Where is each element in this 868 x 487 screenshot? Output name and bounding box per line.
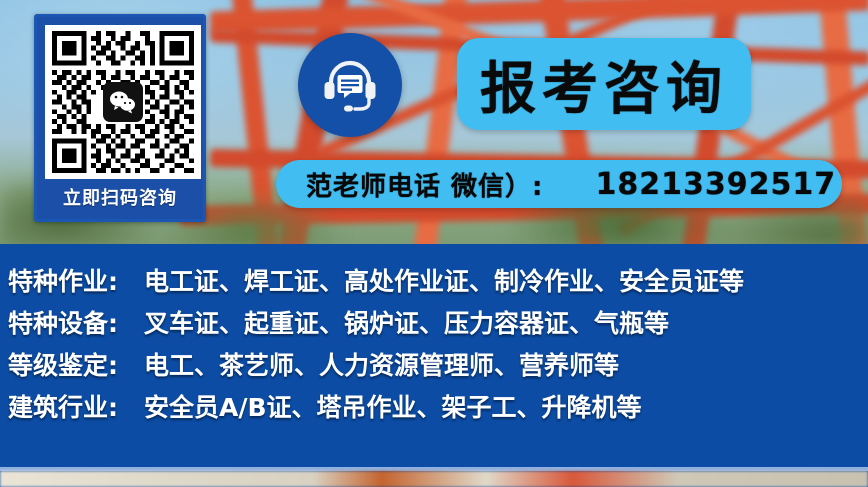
info-row-label: 特种作业: xyxy=(8,262,144,298)
bottom-photo-strip xyxy=(0,471,868,487)
info-row-value: 叉车证、起重证、锅炉证、压力容器证、气瓶等 xyxy=(144,304,669,340)
info-row: 特种作业: 电工证、焊工证、高处作业证、制冷作业、安全员证等 xyxy=(8,262,868,298)
info-panel: 特种作业: 电工证、焊工证、高处作业证、制冷作业、安全员证等 特种设备: 叉车证… xyxy=(0,244,868,467)
qr-code-image[interactable] xyxy=(45,25,201,179)
qr-card[interactable]: 立即扫码咨询 xyxy=(34,14,206,222)
info-row: 特种设备: 叉车证、起重证、锅炉证、压力容器证、气瓶等 xyxy=(8,304,868,340)
phone-label: 范老师电话 微信）: xyxy=(306,166,543,203)
title-pill: 报考咨询 xyxy=(457,38,751,130)
wechat-glyph xyxy=(109,90,137,114)
headset-glyph xyxy=(319,54,381,116)
qr-caption: 立即扫码咨询 xyxy=(45,179,195,219)
title-text: 报考咨询 xyxy=(480,44,728,125)
wechat-icon xyxy=(103,82,143,122)
promo-poster: 立即扫码咨询 报考咨询 范老师电话 微信）: 18213392517 特种作业:… xyxy=(0,0,868,487)
phone-pill[interactable]: 范老师电话 微信）: 18213392517 xyxy=(276,160,842,208)
info-row-label: 等级鉴定: xyxy=(8,346,144,382)
info-row-label: 特种设备: xyxy=(8,304,144,340)
info-row-label: 建筑行业: xyxy=(8,388,144,424)
info-row: 建筑行业: 安全员A/B证、塔吊作业、架子工、升降机等 xyxy=(8,388,868,424)
phone-number[interactable]: 18213392517 xyxy=(595,167,836,202)
info-row: 等级鉴定: 电工、茶艺师、人力资源管理师、营养师等 xyxy=(8,346,868,382)
info-row-value: 电工证、焊工证、高处作业证、制冷作业、安全员证等 xyxy=(144,262,744,298)
headset-support-icon xyxy=(298,33,402,137)
info-row-value: 电工、茶艺师、人力资源管理师、营养师等 xyxy=(144,346,619,382)
info-row-value: 安全员A/B证、塔吊作业、架子工、升降机等 xyxy=(144,388,642,424)
